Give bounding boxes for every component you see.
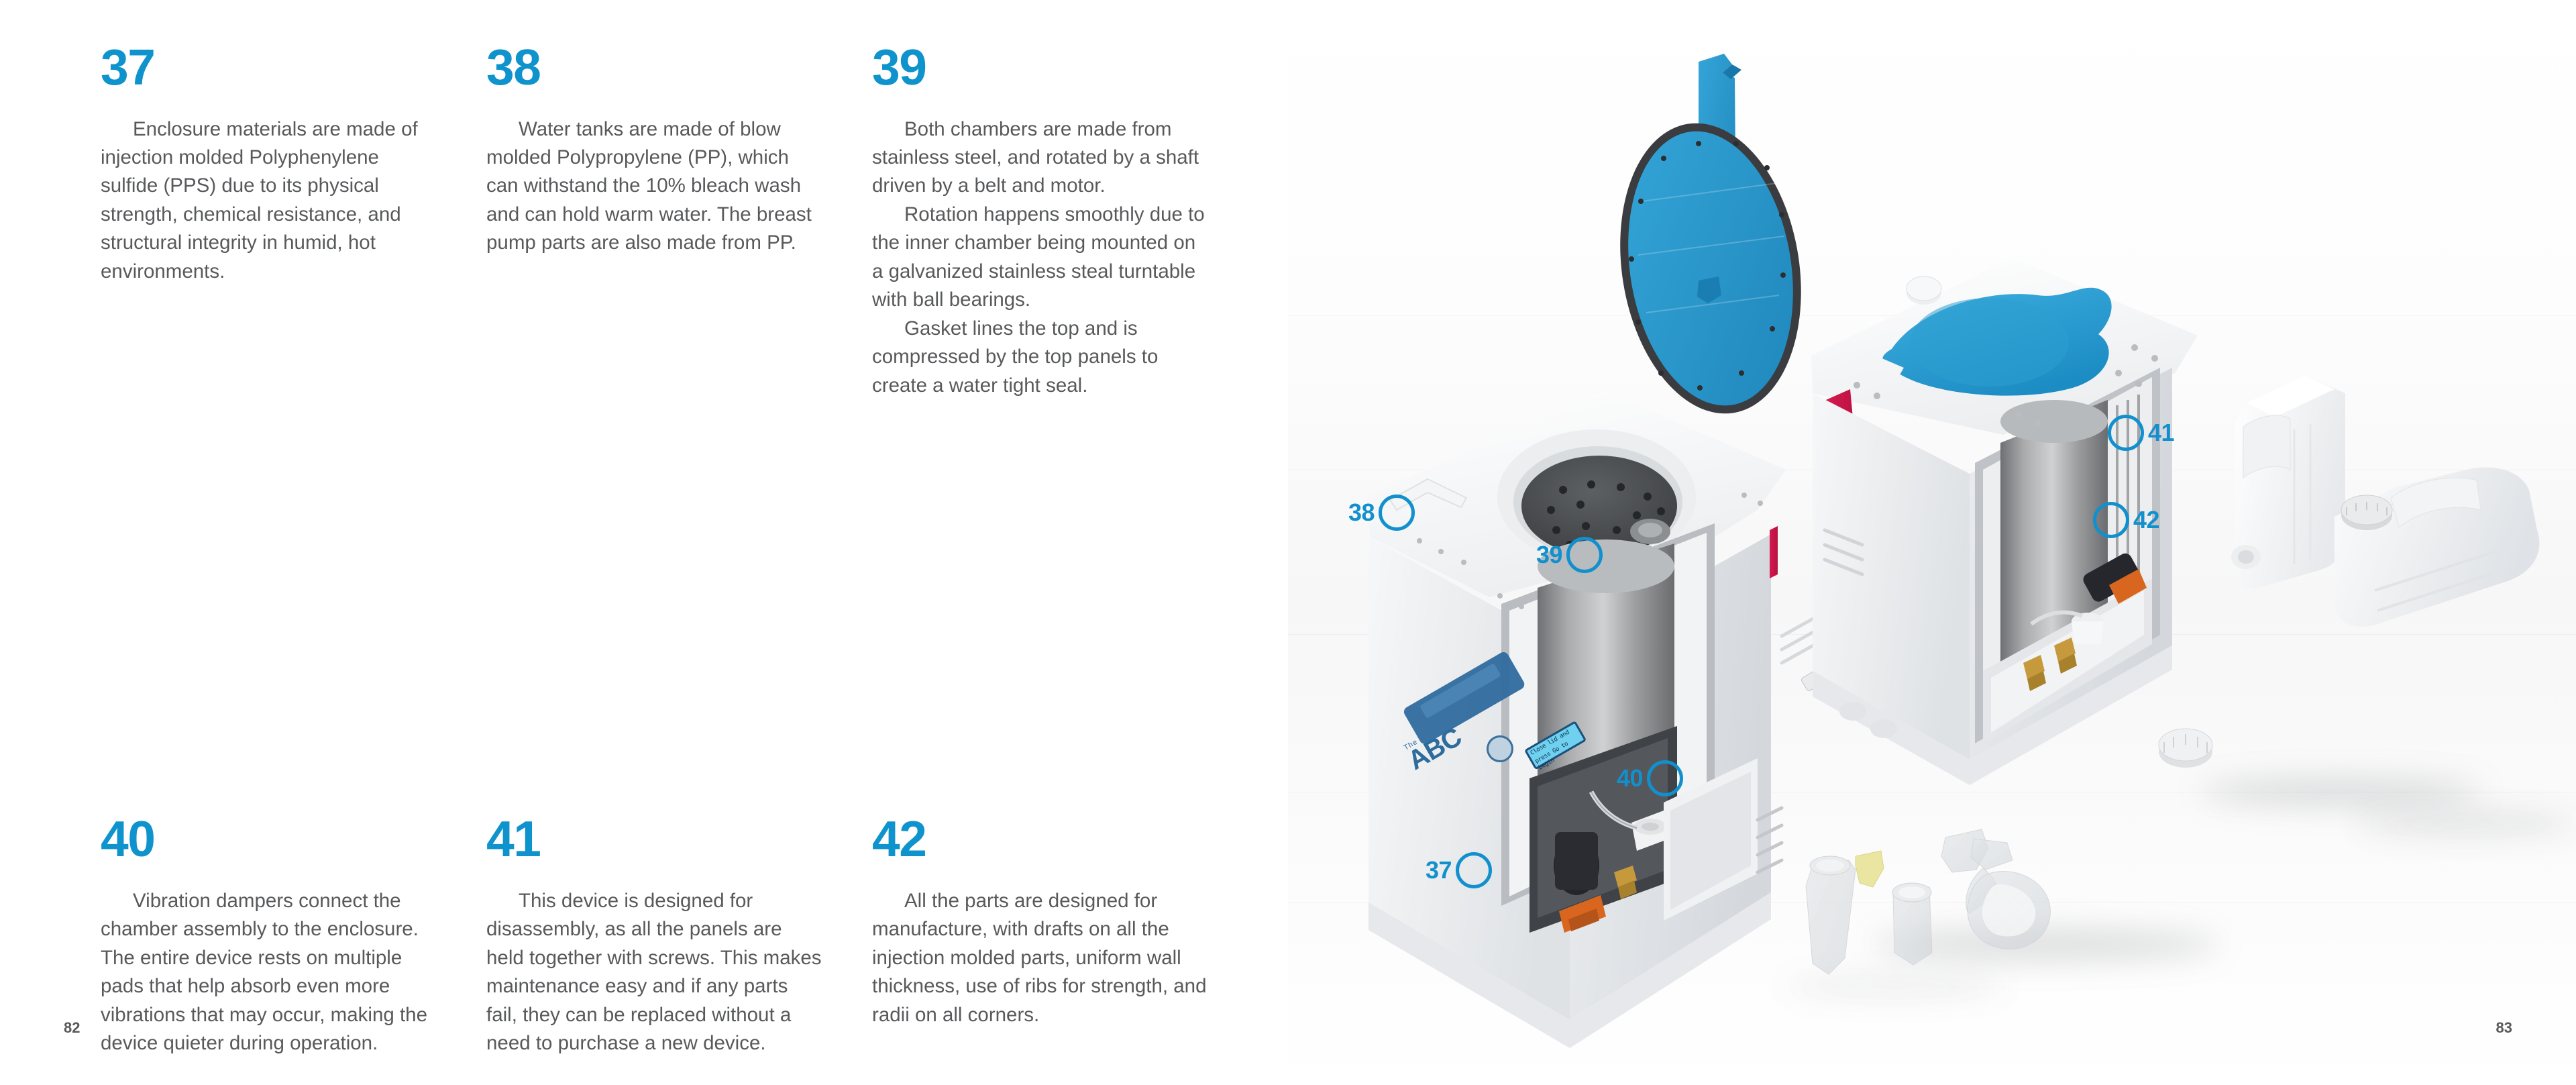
loose-cap <box>2159 729 2212 768</box>
page-number-right: 83 <box>2496 1019 2512 1037</box>
entry-42: 42 All the parts are designed for manufa… <box>872 819 1214 1057</box>
page-number-left: 82 <box>64 1019 80 1037</box>
paragraph: This device is designed for disassembly,… <box>486 887 822 1058</box>
callout-ring-icon <box>1566 537 1603 573</box>
breast-pump-parts <box>1806 829 2050 974</box>
right-page: Close lid and press Go to begin The ABC … <box>1288 0 2576 1085</box>
callout-label: 42 <box>2133 508 2159 532</box>
callout-ring-icon <box>2093 502 2129 538</box>
entry-number-38: 38 <box>486 47 872 89</box>
paragraph: Enclosure materials are made of injectio… <box>101 115 436 287</box>
paragraph: Vibration dampers connect the chamber as… <box>101 887 436 1058</box>
paragraph: Gasket lines the top and is compressed b… <box>872 315 1207 400</box>
callout-ring-icon <box>1456 852 1492 888</box>
callout-ring-icon <box>2108 415 2144 451</box>
callout-label: 37 <box>1426 858 1452 882</box>
entry-body-38: Water tanks are made of blow molded Poly… <box>486 115 828 258</box>
entry-39: 39 Both chambers are made from stainless… <box>872 47 1214 400</box>
text-row-upper: 37 Enclosure materials are made of injec… <box>101 47 1214 400</box>
entry-number-42: 42 <box>872 819 1214 860</box>
entry-38: 38 Water tanks are made of blow molded P… <box>486 47 872 400</box>
paragraph: Rotation happens smoothly due to the inn… <box>872 201 1207 315</box>
entry-body-37: Enclosure materials are made of injectio… <box>101 115 443 287</box>
paragraph: All the parts are designed for manufactu… <box>872 887 1207 1029</box>
open-lid-assembly <box>1601 54 1821 427</box>
render-vector-layer <box>1288 0 2576 1085</box>
entry-number-39: 39 <box>872 47 1214 89</box>
callout-37[interactable]: 37 <box>1426 852 1492 888</box>
entry-number-40: 40 <box>101 819 486 860</box>
callout-label: 39 <box>1536 543 1562 567</box>
callout-label: 40 <box>1617 766 1643 790</box>
callout-42[interactable]: 42 <box>2093 502 2159 538</box>
callout-label: 41 <box>2148 421 2174 445</box>
callout-39[interactable]: 39 <box>1536 537 1603 573</box>
callout-ring-icon <box>1379 495 1415 531</box>
callout-40[interactable]: 40 <box>1617 760 1683 796</box>
entry-number-37: 37 <box>101 47 486 89</box>
paragraph: Water tanks are made of blow molded Poly… <box>486 115 822 258</box>
entry-body-40: Vibration dampers connect the chamber as… <box>101 887 443 1058</box>
callout-label: 38 <box>1348 501 1375 525</box>
entry-body-41: This device is designed for disassembly,… <box>486 887 828 1058</box>
water-tanks <box>2231 376 2539 627</box>
paragraph: Both chambers are made from stainless st… <box>872 115 1207 201</box>
exploded-product-render: Close lid and press Go to begin The ABC … <box>1288 0 2576 1085</box>
text-row-lower: 40 Vibration dampers connect the chamber… <box>101 819 1214 1057</box>
callout-ring-icon <box>1647 760 1683 796</box>
entry-41: 41 This device is designed for disassemb… <box>486 819 872 1057</box>
left-page: 37 Enclosure materials are made of injec… <box>0 0 1288 1085</box>
callout-38[interactable]: 38 <box>1348 495 1415 531</box>
entry-body-39: Both chambers are made from stainless st… <box>872 115 1214 401</box>
entry-body-42: All the parts are designed for manufactu… <box>872 887 1214 1029</box>
entry-37: 37 Enclosure materials are made of injec… <box>101 47 486 400</box>
entry-40: 40 Vibration dampers connect the chamber… <box>101 819 486 1057</box>
annotation-text-grid: 37 Enclosure materials are made of injec… <box>101 47 1214 1058</box>
page-spread: 37 Enclosure materials are made of injec… <box>0 0 2576 1085</box>
callout-41[interactable]: 41 <box>2108 415 2174 451</box>
entry-number-41: 41 <box>486 819 872 860</box>
